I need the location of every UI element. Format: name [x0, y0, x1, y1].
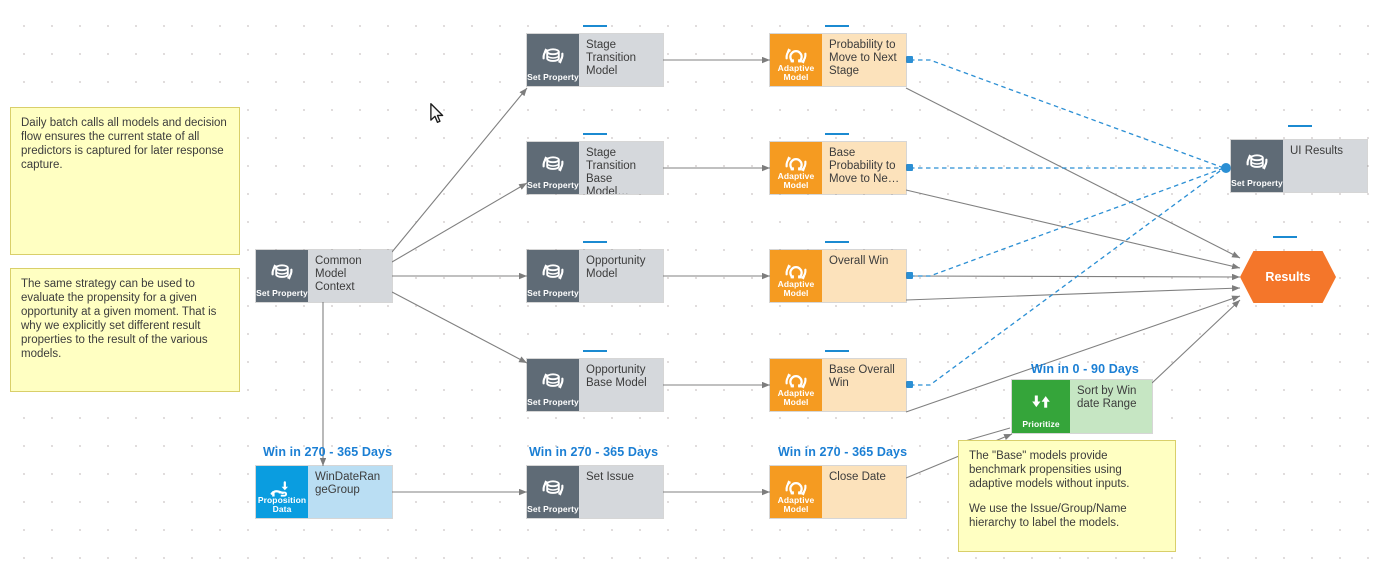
- prioritize-icon: Prioritize: [1012, 380, 1070, 433]
- node-label: Set Issue: [579, 466, 663, 518]
- set-property-icon-caption: Set Property: [527, 398, 579, 407]
- node-label: Opportunity Model: [579, 250, 663, 302]
- set-property-icon: Set Property: [527, 142, 579, 194]
- collapsed-label-tick: [825, 350, 849, 352]
- adaptive-model-icon: Adaptive Model: [770, 250, 822, 302]
- node-probability-to-move-to-next-stage[interactable]: Adaptive Model Probability to Move to Ne…: [770, 34, 906, 86]
- collapsed-label-tick: [825, 241, 849, 243]
- set-property-icon-caption: Set Property: [256, 289, 308, 298]
- label-sort-by-win-date-range: Win in 0 - 90 Days: [1031, 362, 1139, 376]
- node-ui-results[interactable]: Set Property UI Results: [1231, 140, 1367, 192]
- note-text-2: We use the Issue/Group/Name hierarchy to…: [969, 502, 1165, 530]
- adaptive-model-icon-caption: Adaptive Model: [770, 280, 822, 298]
- node-sort-by-win-date-range[interactable]: Prioritize Sort by Win date Range: [1012, 380, 1152, 433]
- label-win-date-range-group: Win in 270 - 365 Days: [263, 445, 392, 459]
- note-text: Daily batch calls all models and decisio…: [21, 116, 229, 172]
- adaptive-model-icon: Adaptive Model: [770, 34, 822, 86]
- note-base-models[interactable]: The "Base" models provide benchmark prop…: [958, 440, 1176, 552]
- label-set-issue: Win in 270 - 365 Days: [529, 445, 658, 459]
- note-text-1: The "Base" models provide benchmark prop…: [969, 449, 1165, 491]
- set-property-icon: Set Property: [527, 466, 579, 518]
- adaptive-model-icon: Adaptive Model: [770, 466, 822, 518]
- node-label: UI Results: [1283, 140, 1367, 192]
- node-overall-win[interactable]: Adaptive Model Overall Win: [770, 250, 906, 302]
- node-label: Base Probability to Move to Ne…: [822, 142, 906, 194]
- node-base-probability-to-move-to-next-stage[interactable]: Adaptive Model Base Probability to Move …: [770, 142, 906, 194]
- node-label: Sort by Win date Range: [1070, 380, 1152, 433]
- collapsed-label-tick: [1288, 125, 1312, 127]
- node-stage-transition-model[interactable]: Set Property Stage Transition Model: [527, 34, 663, 86]
- collapsed-label-tick: [1273, 236, 1297, 238]
- adaptive-model-icon-caption: Adaptive Model: [770, 64, 822, 82]
- collapsed-label-tick: [583, 133, 607, 135]
- node-base-overall-win[interactable]: Adaptive Model Base Overall Win: [770, 359, 906, 411]
- note-daily-batch[interactable]: Daily batch calls all models and decisio…: [10, 107, 240, 255]
- note-text: The same strategy can be used to evaluat…: [21, 277, 229, 361]
- collapsed-label-tick: [583, 350, 607, 352]
- node-label: Stage Transition Model: [579, 34, 663, 86]
- results-label: Results: [1265, 270, 1310, 284]
- node-set-issue[interactable]: Set Property Set Issue: [527, 466, 663, 518]
- node-label: WinDateRangeGroup: [308, 466, 392, 518]
- set-property-icon: Set Property: [527, 34, 579, 86]
- set-property-icon-caption: Set Property: [527, 181, 579, 190]
- collapsed-label-tick: [583, 25, 607, 27]
- set-property-icon-caption: Set Property: [527, 73, 579, 82]
- decision-flow-canvas[interactable]: Daily batch calls all models and decisio…: [0, 0, 1373, 566]
- collapsed-label-tick: [825, 25, 849, 27]
- proposition-data-icon: Proposition Data: [256, 466, 308, 518]
- adaptive-model-icon-caption: Adaptive Model: [770, 496, 822, 514]
- proposition-data-icon-caption: Proposition Data: [256, 496, 308, 514]
- set-property-icon: Set Property: [1231, 140, 1283, 192]
- node-results[interactable]: Results: [1240, 251, 1336, 303]
- node-label: Base Overall Win: [822, 359, 906, 411]
- adaptive-model-icon: Adaptive Model: [770, 359, 822, 411]
- node-label: Overall Win: [822, 250, 906, 302]
- node-opportunity-model[interactable]: Set Property Opportunity Model: [527, 250, 663, 302]
- set-property-icon: Set Property: [527, 359, 579, 411]
- node-stage-transition-base-model[interactable]: Set Property Stage Transition Base Model…: [527, 142, 663, 194]
- set-property-icon-caption: Set Property: [1231, 179, 1283, 188]
- node-label: Probability to Move to Next Stage: [822, 34, 906, 86]
- adaptive-model-icon-caption: Adaptive Model: [770, 172, 822, 190]
- node-label: Opportunity Base Model: [579, 359, 663, 411]
- set-property-icon: Set Property: [527, 250, 579, 302]
- collapsed-label-tick: [583, 241, 607, 243]
- node-label: Close Date: [822, 466, 906, 518]
- set-property-icon: Set Property: [256, 250, 308, 302]
- mouse-cursor: [429, 103, 445, 125]
- prioritize-icon-caption: Prioritize: [1012, 420, 1070, 429]
- node-label: Common Model Context: [308, 250, 392, 302]
- label-close-date: Win in 270 - 365 Days: [778, 445, 907, 459]
- node-win-date-range-group[interactable]: Proposition Data WinDateRangeGroup: [256, 466, 392, 518]
- collapsed-label-tick: [825, 133, 849, 135]
- node-label: Stage Transition Base Model…: [579, 142, 663, 194]
- adaptive-model-icon: Adaptive Model: [770, 142, 822, 194]
- node-close-date[interactable]: Adaptive Model Close Date: [770, 466, 906, 518]
- set-property-icon-caption: Set Property: [527, 289, 579, 298]
- node-opportunity-base-model[interactable]: Set Property Opportunity Base Model: [527, 359, 663, 411]
- note-same-strategy[interactable]: The same strategy can be used to evaluat…: [10, 268, 240, 392]
- node-common-model-context[interactable]: Set Property Common Model Context: [256, 250, 392, 302]
- set-property-icon-caption: Set Property: [527, 505, 579, 514]
- adaptive-model-icon-caption: Adaptive Model: [770, 389, 822, 407]
